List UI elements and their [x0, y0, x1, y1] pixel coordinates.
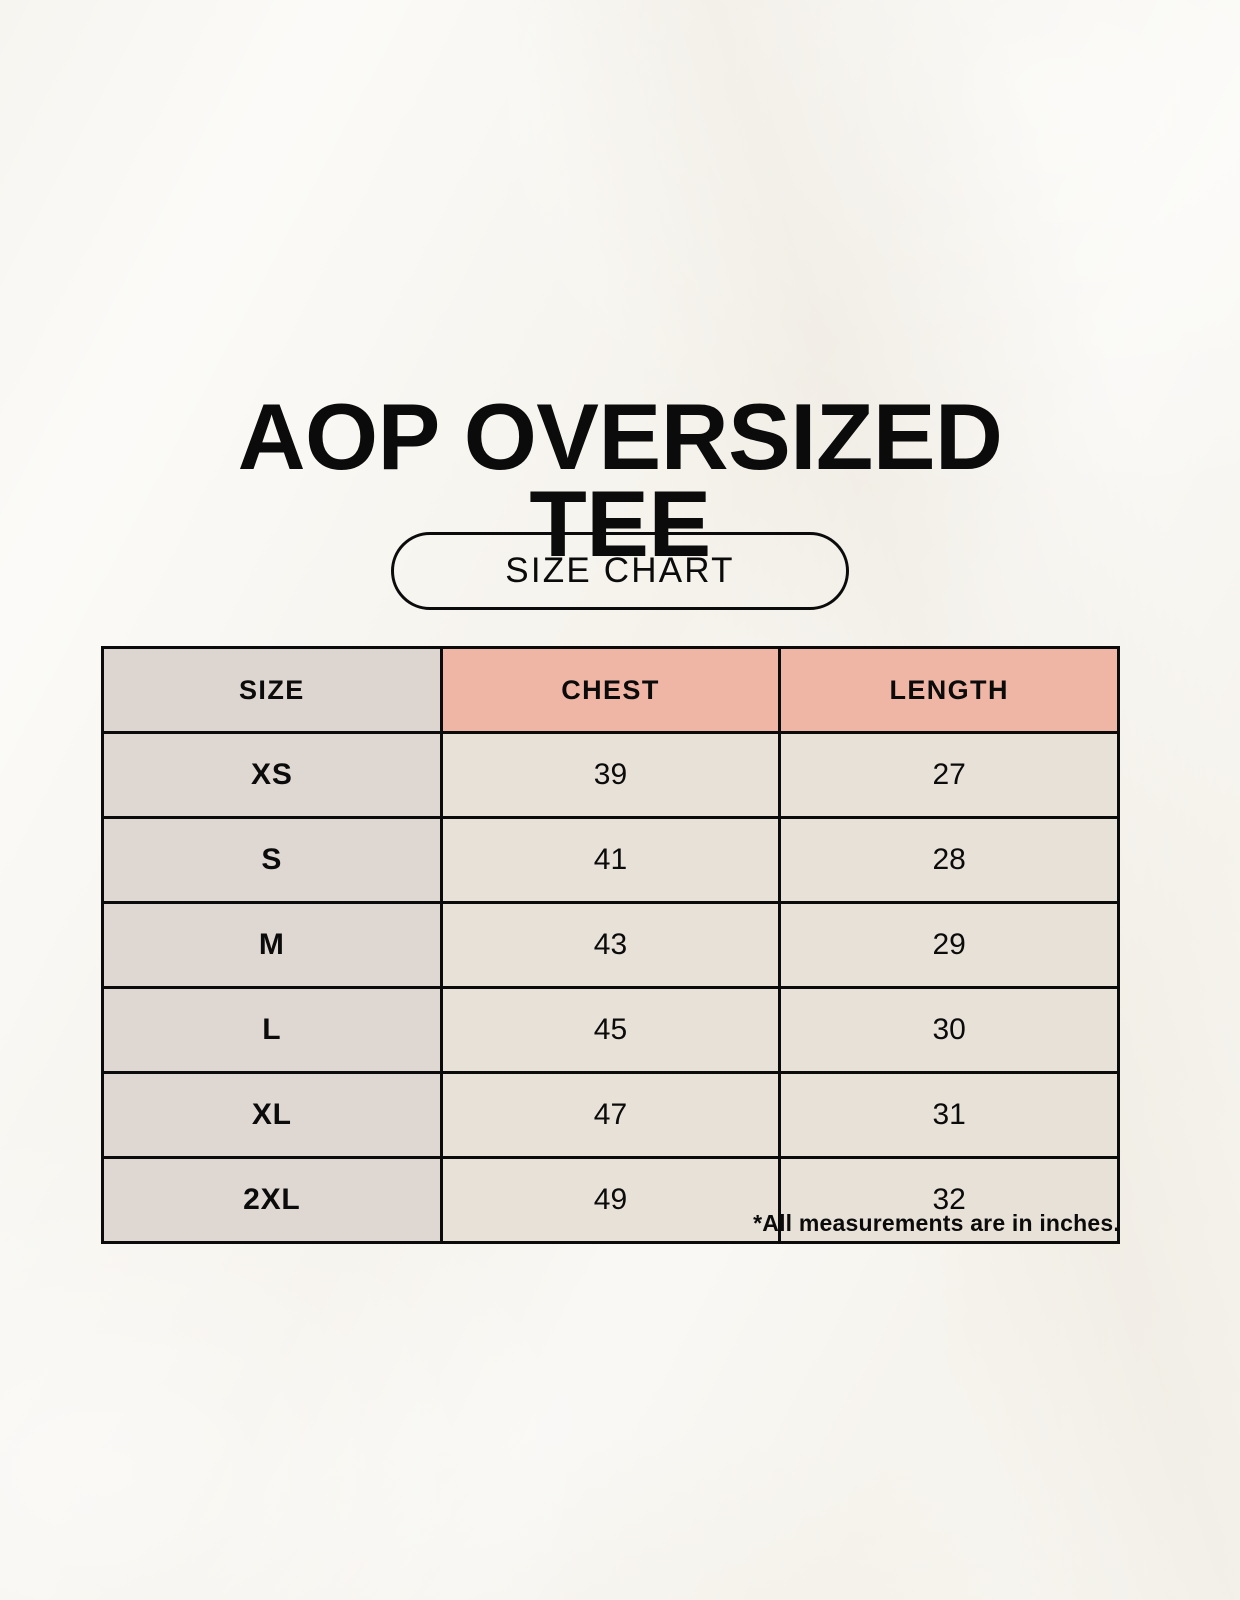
- cell-chest: 41: [441, 818, 780, 903]
- measurement-unit-footnote: *All measurements are in inches.: [101, 1210, 1120, 1237]
- table-row: L 45 30: [103, 988, 1119, 1073]
- cell-length: 30: [780, 988, 1119, 1073]
- cell-size: S: [103, 818, 442, 903]
- column-header-length: LENGTH: [780, 648, 1119, 733]
- table-body: XS 39 27 S 41 28 M 43 29 L 45 30: [103, 733, 1119, 1243]
- column-header-size: SIZE: [103, 648, 442, 733]
- cell-chest: 39: [441, 733, 780, 818]
- table-row: S 41 28: [103, 818, 1119, 903]
- size-chart-table: SIZE CHEST LENGTH XS 39 27 S 41 28 M: [101, 646, 1120, 1244]
- cell-length: 28: [780, 818, 1119, 903]
- table-row: XL 47 31: [103, 1073, 1119, 1158]
- column-header-chest: CHEST: [441, 648, 780, 733]
- table-row: M 43 29: [103, 903, 1119, 988]
- cell-size: XL: [103, 1073, 442, 1158]
- cell-size: L: [103, 988, 442, 1073]
- cell-size: M: [103, 903, 442, 988]
- cell-chest: 43: [441, 903, 780, 988]
- cell-chest: 45: [441, 988, 780, 1073]
- table-row: XS 39 27: [103, 733, 1119, 818]
- table-header-row: SIZE CHEST LENGTH: [103, 648, 1119, 733]
- cell-chest: 47: [441, 1073, 780, 1158]
- cell-size: XS: [103, 733, 442, 818]
- size-chart-table-container: SIZE CHEST LENGTH XS 39 27 S 41 28 M: [101, 646, 1120, 1244]
- size-chart-badge: SIZE CHART: [391, 532, 849, 610]
- cell-length: 27: [780, 733, 1119, 818]
- size-chart-page: AOP OVERSIZED TEE SIZE CHART SIZE CHEST …: [0, 0, 1240, 1600]
- cell-length: 29: [780, 903, 1119, 988]
- table-header: SIZE CHEST LENGTH: [103, 648, 1119, 733]
- cell-length: 31: [780, 1073, 1119, 1158]
- size-chart-badge-container: SIZE CHART: [0, 532, 1240, 610]
